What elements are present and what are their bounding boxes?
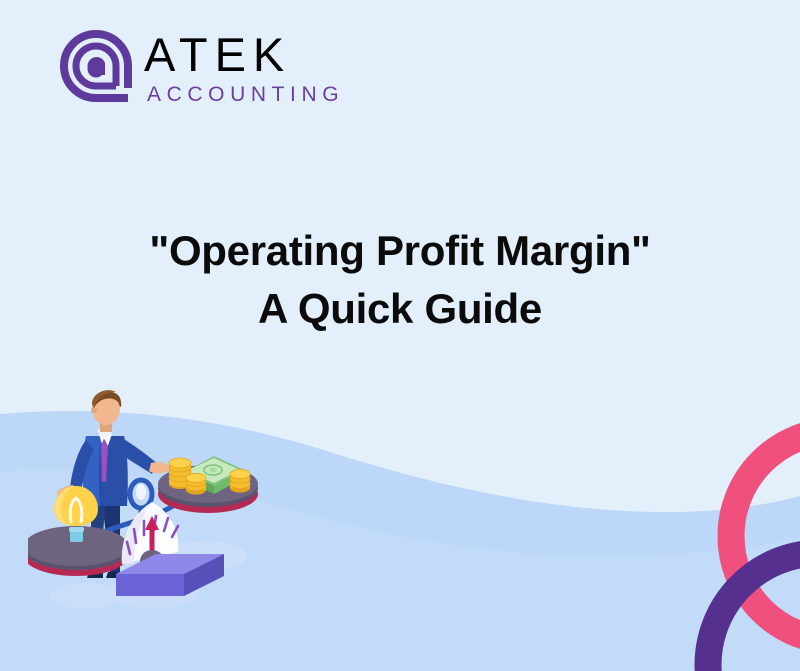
logo-wordmark: ATEK	[144, 30, 344, 80]
slide-canvas: ATEK ACCOUNTING "Operating Profit Margin…	[0, 0, 800, 671]
page-title: "Operating Profit Margin" A Quick Guide	[0, 222, 800, 338]
coin-stack-right	[230, 469, 250, 492]
scale-pan-right-money	[158, 456, 258, 513]
title-line-2: A Quick Guide	[0, 280, 800, 338]
logo-tagline: ACCOUNTING	[147, 82, 344, 108]
ring-pink	[731, 431, 800, 641]
brand-logo[interactable]: ATEK ACCOUNTING	[58, 28, 344, 110]
coin-stack-middle	[186, 473, 206, 494]
balance-scale-businessman-illustration	[28, 378, 290, 628]
title-line-1: "Operating Profit Margin"	[0, 222, 800, 280]
at-spiral-icon	[58, 28, 136, 110]
